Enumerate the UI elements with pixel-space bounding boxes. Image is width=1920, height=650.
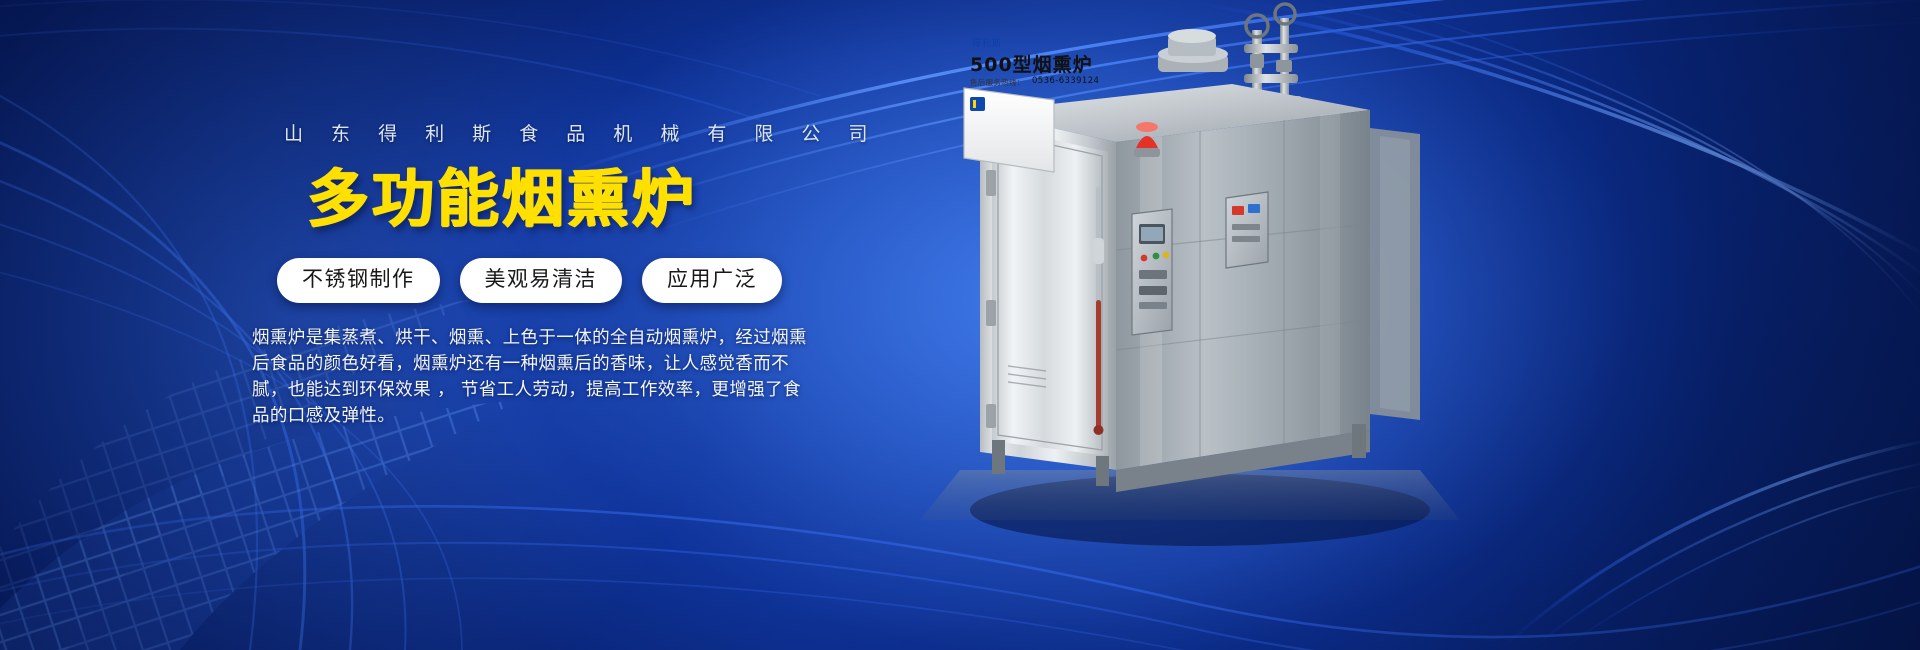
cabinet-door (986, 126, 1108, 456)
feature-pill-1[interactable]: 不锈钢制作 (277, 258, 440, 303)
company-name: 山 东 得 利 斯 食 品 机 械 有 限 公 司 (284, 119, 878, 146)
hero-copy: 山 东 得 利 斯 食 品 机 械 有 限 公 司 多功能烟熏炉 不锈钢制作 美… (0, 0, 900, 650)
electrical-box (1226, 192, 1268, 268)
nameplate-hotline-number: 0536-6339124 (1032, 76, 1099, 86)
product-description: 烟熏炉是集蒸煮、烘干、烟熏、上色于一体的全自动烟熏炉，经过烟熏后食品的颜色好看，… (252, 325, 816, 429)
machine-nameplate (964, 88, 1054, 172)
feature-pill-2[interactable]: 美观易清洁 (460, 258, 623, 303)
nameplate-hotline-label: 售后服务热线： (970, 77, 1025, 88)
control-panel (1132, 209, 1172, 335)
nameplate-brand: 得利斯 (972, 36, 1002, 49)
hero-banner: 得利斯 500型烟熏炉 售后服务热线： 0536-6339124 山 东 得 利… (0, 0, 1920, 650)
exhaust-duct (1370, 128, 1420, 420)
product-photo: 得利斯 500型烟熏炉 售后服务热线： 0536-6339124 (900, 0, 1520, 650)
product-description-text: 烟熏炉是集蒸煮、烘干、烟熏、上色于一体的全自动烟熏炉，经过烟熏后食品的颜色好看，… (252, 325, 816, 429)
feature-pill-list: 不锈钢制作 美观易清洁 应用广泛 (277, 258, 782, 303)
page-title: 多功能烟熏炉 (307, 168, 697, 230)
nameplate-model: 500型烟熏炉 (970, 50, 1093, 77)
feature-pill-3[interactable]: 应用广泛 (642, 258, 782, 303)
